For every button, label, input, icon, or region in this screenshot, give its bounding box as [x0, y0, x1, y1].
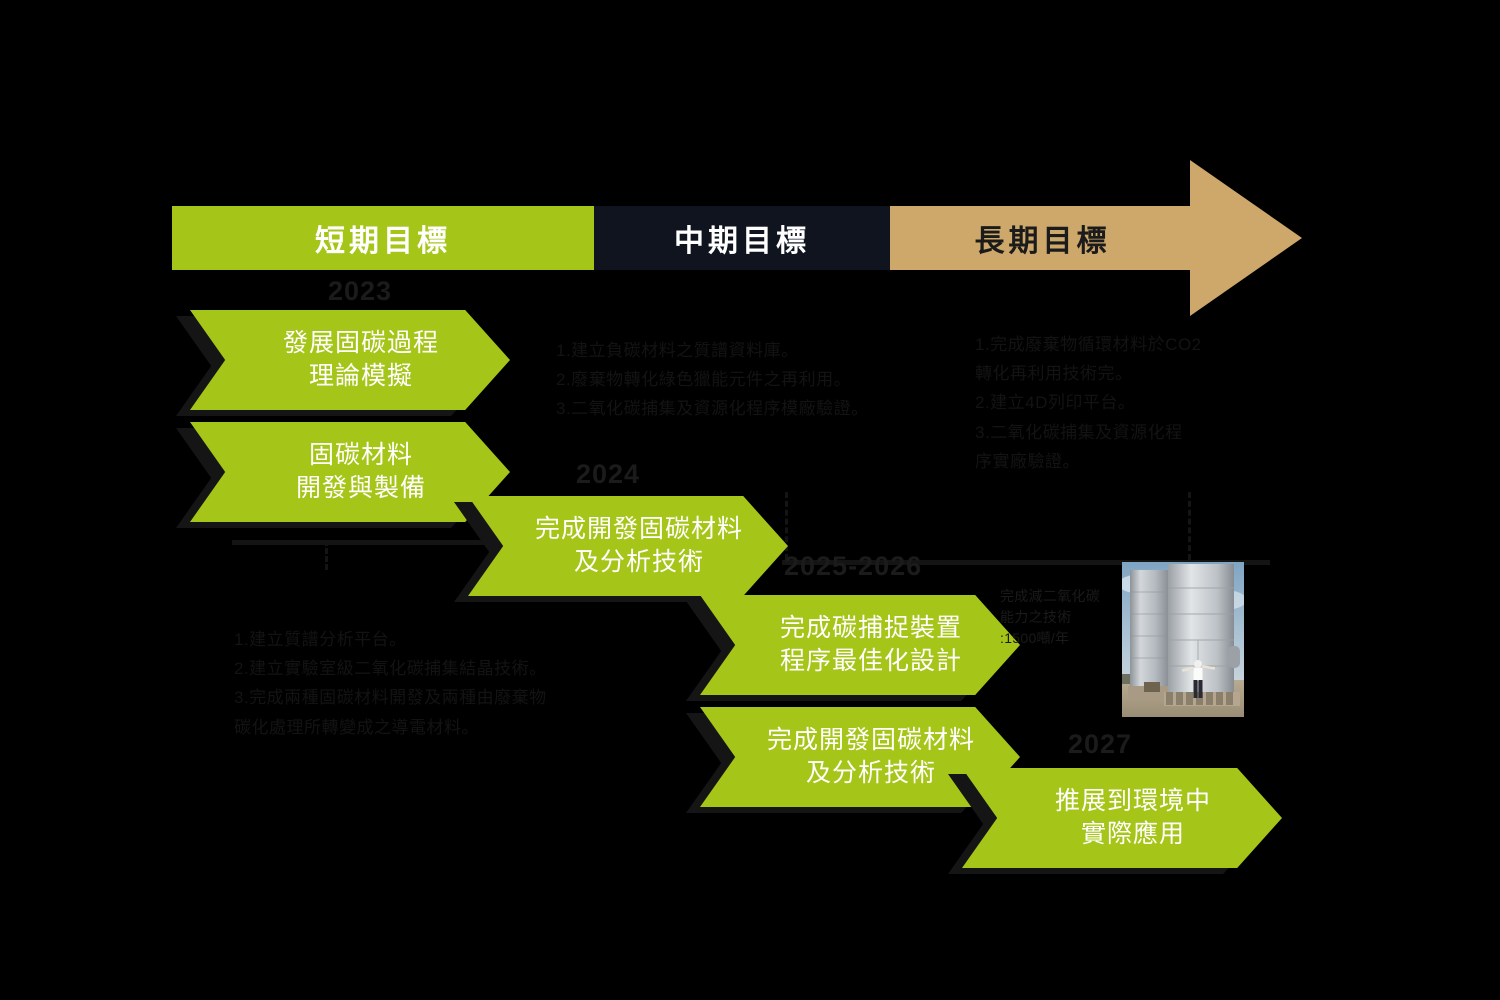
milestone-4[interactable]: 完成碳捕捉裝置 程序最佳化設計: [700, 595, 1020, 695]
header-segment-short-term-label: 短期目標: [315, 216, 451, 260]
milestone-1[interactable]: 發展固碳過程 理論模擬: [190, 310, 510, 410]
photo-caption: 完成減二氧化碳 能力之技術 :1500噸/年: [1000, 586, 1120, 649]
milestone-5-label: 完成開發固碳材料 及分析技術: [745, 724, 975, 790]
header-segment-short-term: 短期目標: [172, 206, 594, 270]
timeline-tick-long-term: [1188, 492, 1191, 560]
milestone-1-banner[interactable]: 發展固碳過程 理論模擬: [190, 310, 510, 410]
year-label-2023: 2023: [328, 276, 392, 307]
milestone-3[interactable]: 完成開發固碳材料 及分析技術: [468, 496, 788, 596]
notes-mid-term: 1.建立負碳材料之質譜資料庫。 2.廢棄物轉化綠色獵能元件之再利用。 3.二氧化…: [556, 336, 956, 424]
header-segment-mid-term-label: 中期目標: [674, 216, 810, 260]
notes-long-term: 1.完成廢棄物循環材料於CO2 轉化再利用技術完。 2.建立4D列印平台。 3.…: [975, 330, 1265, 476]
roadmap-diagram: 短期目標 中期目標 長期目標 2023 2024 2025-2026 2027 …: [0, 0, 1500, 1000]
year-label-2027: 2027: [1068, 729, 1132, 760]
milestone-4-label: 完成碳捕捉裝置 程序最佳化設計: [758, 612, 962, 678]
milestone-3-banner[interactable]: 完成開發固碳材料 及分析技術: [468, 496, 788, 596]
header-segment-mid-term: 中期目標: [594, 206, 890, 270]
header-segment-long-term: 長期目標: [890, 206, 1195, 270]
milestone-1-label: 發展固碳過程 理論模擬: [261, 327, 439, 393]
industrial-silos-photo: [1122, 562, 1244, 717]
timeline-tick-2023: [325, 540, 328, 570]
industrial-silos-photo-graphic: [1122, 562, 1244, 717]
milestone-2-label: 固碳材料 開發與製備: [274, 439, 426, 505]
milestone-6-label: 推展到環境中 實際應用: [1033, 785, 1211, 851]
timeline-arrowhead-icon: [1190, 160, 1302, 316]
header-segment-long-term-label: 長期目標: [975, 216, 1111, 260]
milestone-6[interactable]: 推展到環境中 實際應用: [962, 768, 1282, 868]
year-label-2025-2026: 2025-2026: [784, 551, 922, 582]
notes-short-term: 1.建立質譜分析平台。 2.建立實驗室級二氧化碳捕集結晶技術。 3.完成兩種固碳…: [234, 625, 654, 742]
milestone-4-banner[interactable]: 完成碳捕捉裝置 程序最佳化設計: [700, 595, 1020, 695]
year-label-2024: 2024: [576, 459, 640, 490]
milestone-3-label: 完成開發固碳材料 及分析技術: [513, 513, 743, 579]
milestone-6-banner[interactable]: 推展到環境中 實際應用: [962, 768, 1282, 868]
